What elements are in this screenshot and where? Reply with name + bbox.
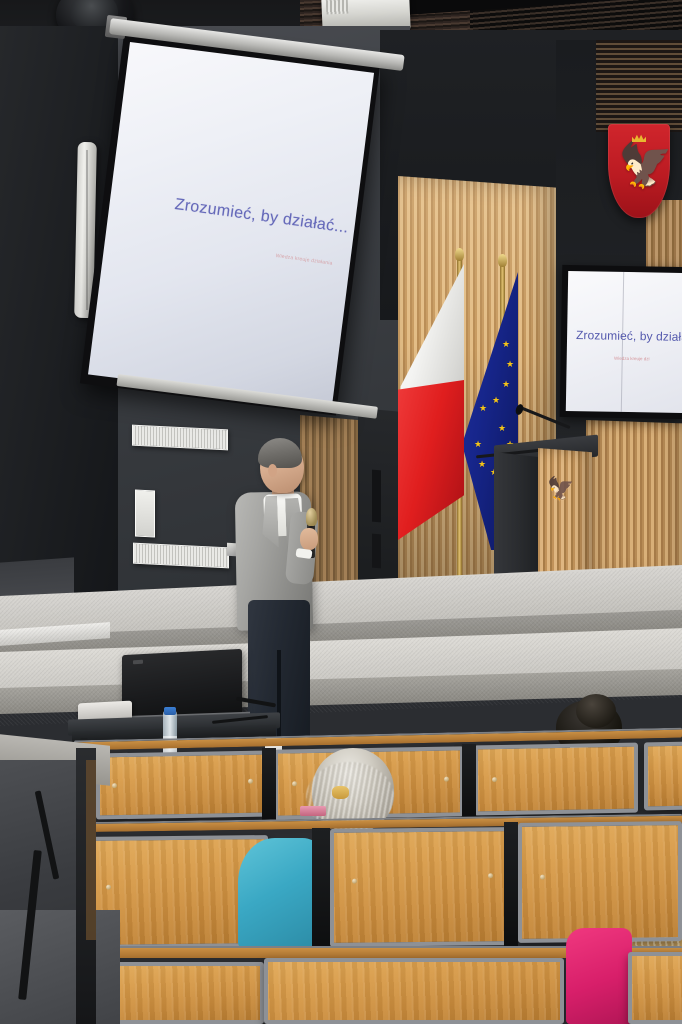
- seat-screw-icon: [488, 873, 493, 878]
- seat-row-gap: [312, 828, 330, 950]
- monitor-slide-title: Zrozumieć, by działa: [576, 328, 682, 344]
- attendee-dark-hair-crown: [576, 694, 616, 728]
- seat-row-gap: [262, 748, 276, 820]
- seat-wood-grain: [632, 956, 682, 1020]
- seat-back[interactable]: [330, 827, 510, 947]
- eu-star-icon: ★: [502, 340, 510, 349]
- flagpole-finial-eu: [498, 254, 507, 267]
- presenter-hand: [300, 528, 318, 550]
- seat-wood-grain: [268, 962, 560, 1020]
- column-loudspeaker-seam: [86, 150, 88, 310]
- seat-back[interactable]: [264, 958, 564, 1024]
- seat-screw-icon: [352, 879, 357, 884]
- pillar-slot-lower: [372, 534, 381, 569]
- monitor-slide-subtitle: Wiedza kreuje dzi: [614, 356, 650, 362]
- seat-screw-icon: [106, 885, 111, 890]
- seat-back[interactable]: [628, 952, 682, 1024]
- seat-row-gap: [462, 744, 476, 816]
- seat-back[interactable]: [518, 821, 682, 943]
- seat-wood-grain: [478, 747, 634, 812]
- seat-wood-grain: [522, 825, 678, 939]
- seat-wood-grain: [334, 831, 506, 943]
- seat-back[interactable]: [96, 962, 264, 1024]
- eu-star-icon: ★: [478, 460, 486, 469]
- attendee-hair-clip-icon: [332, 786, 349, 799]
- seat-back[interactable]: [96, 751, 266, 820]
- laptop-logo-icon: [133, 660, 143, 665]
- flagpole-finial-poland: [455, 248, 464, 261]
- seat-screw-icon: [540, 875, 545, 880]
- lectern-eagle-emblem-icon: 🦅: [547, 473, 569, 505]
- auditorium-scene: 🦅 Zrozumieć, by działać... Wiedza kreuje…: [0, 0, 682, 1024]
- projector-vent-icon: [326, 0, 349, 14]
- water-bottle-cap: [164, 707, 176, 715]
- eu-star-icon: ★: [506, 360, 514, 369]
- eu-star-icon: ★: [492, 396, 500, 405]
- white-eagle-icon: 🦅: [618, 138, 660, 200]
- wall-switch-plate[interactable]: [227, 543, 236, 556]
- seat-wood-grain: [100, 966, 260, 1020]
- aisle-floor-foreground: [0, 910, 120, 1024]
- eu-star-icon: ★: [474, 440, 482, 449]
- seat-screw-icon: [492, 777, 497, 782]
- seat-screw-icon: [444, 777, 449, 782]
- seat-row-end-wood: [86, 760, 96, 940]
- handheld-microphone-icon: [306, 508, 317, 526]
- seat-row-gap: [504, 822, 518, 946]
- seat-back[interactable]: [474, 743, 638, 816]
- seat-back[interactable]: [644, 742, 682, 811]
- wood-slats-upper-right: [596, 40, 682, 132]
- eu-star-icon: ★: [498, 424, 506, 433]
- seat-screw-icon: [248, 779, 253, 784]
- seat-wood-grain: [648, 746, 682, 807]
- pillar-slot-upper: [372, 470, 381, 523]
- seat-wood-grain: [100, 755, 262, 816]
- seat-screw-icon: [292, 781, 297, 786]
- wall-panel: [135, 490, 155, 538]
- eu-star-icon: ★: [502, 380, 510, 389]
- attendee-magenta-top: [566, 928, 632, 1024]
- presenter-ear: [268, 464, 277, 477]
- eu-star-icon: ★: [479, 404, 487, 413]
- pink-card-on-row: [300, 806, 326, 816]
- seat-screw-icon: [112, 783, 117, 788]
